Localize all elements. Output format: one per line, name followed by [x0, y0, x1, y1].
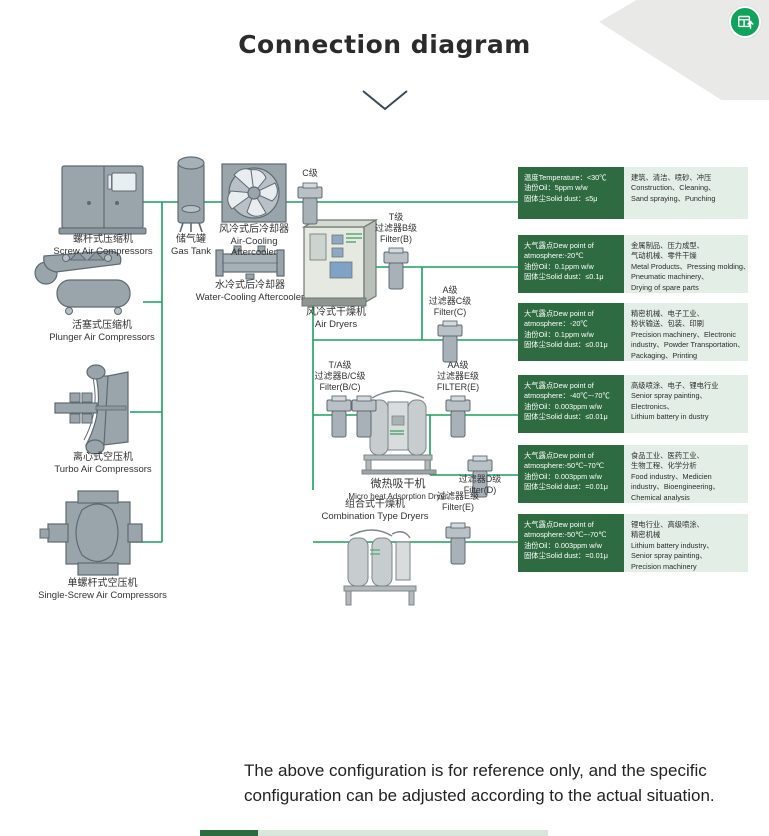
- tag-filter-c: A级 过滤器C级 Filter(C): [410, 285, 490, 318]
- filter-e-line2: Filter(E): [418, 502, 498, 513]
- filter-e-aa-line3: FILTER(E): [418, 382, 498, 393]
- water-cooling-aftercooler-en: Water-Cooling Aftercooler: [180, 292, 320, 304]
- bottom-strip-light: [258, 830, 548, 836]
- tag-c-grade-line1: C级: [290, 168, 330, 179]
- water-cooling-aftercooler-cn: 水冷式后冷却器: [215, 280, 285, 291]
- filter-c-line3: Filter(C): [410, 307, 490, 318]
- tag-filter-b: T级 过滤器B级 Filter(B): [356, 212, 436, 245]
- single-screw-cn: 单螺杆式空压机: [68, 578, 138, 589]
- info-spec-0: 温度Temperature：<30℃油份Oil：5ppm w/w固体尘Solid…: [518, 167, 624, 219]
- label-water-cooling-aftercooler: 水冷式后冷却器 Water-Cooling Aftercooler: [180, 280, 320, 303]
- turbo-compressor-graphic: [55, 365, 128, 454]
- filter-bc-graphic: [327, 396, 376, 437]
- screw-compressor-en: Screw Air Compressors: [30, 246, 176, 258]
- plunger-compressor-en: Plunger Air Compressors: [22, 332, 182, 344]
- filter-e-aa-line1: AA级: [418, 360, 498, 371]
- info-row-4: 大气露点Dew point ofatmosphere:-50℃~70℃油份Oil…: [518, 445, 748, 503]
- bottom-strip-dark: [200, 830, 260, 836]
- filter-c-line1: A级: [410, 285, 490, 296]
- info-spec-4: 大气露点Dew point ofatmosphere:-50℃~70℃油份Oil…: [518, 445, 624, 503]
- filter-b-graphic: [384, 248, 408, 289]
- info-spec-3: 大气露点Dew point ofatmosphere：-40℃~-70℃油份Oi…: [518, 375, 624, 433]
- table-upload-icon: [737, 14, 754, 31]
- tag-filter-bc: T/A级 过滤器B/C级 Filter(B/C): [300, 360, 380, 393]
- info-row-0: 温度Temperature：<30℃油份Oil：5ppm w/w固体尘Solid…: [518, 167, 748, 219]
- label-air-dryer: 风冷式干燥机 Air Dryers: [288, 307, 384, 330]
- connection-diagram-page: Connection diagram: [0, 0, 769, 836]
- single-screw-en: Single-Screw Air Compressors: [10, 590, 195, 602]
- filter-e-aa-graphic: [446, 396, 470, 437]
- filter-bc-line2: 过滤器B/C级: [300, 371, 380, 382]
- single-screw-compressor-graphic: [40, 491, 142, 575]
- screw-compressor-graphic: [59, 166, 146, 234]
- info-apps-3: 高级喷涂、电子、锂电行业Senior spray painting、Electr…: [624, 375, 748, 433]
- micro-heat-dryer-cn: 微热吸干机: [371, 478, 426, 490]
- turbo-compressor-cn: 离心式空压机: [73, 452, 133, 463]
- chevron-down-icon: [360, 88, 410, 117]
- filter-c-graphic: [438, 321, 462, 362]
- label-single-screw-compressor: 单螺杆式空压机 Single-Screw Air Compressors: [10, 578, 195, 601]
- info-spec-1: 大气露点Dew point ofatmosphere:-20℃油份Oil：0.1…: [518, 235, 624, 293]
- info-apps-1: 金属制品、压力成型、气动机械、零件干燥Metal Products、Pressi…: [624, 235, 748, 293]
- filter-c-grade-graphic: [298, 183, 322, 224]
- label-plunger-compressor: 活塞式压缩机 Plunger Air Compressors: [22, 320, 182, 343]
- filter-e-graphic: [446, 523, 470, 564]
- page-title: Connection diagram: [0, 30, 769, 59]
- label-turbo-compressor: 离心式空压机 Turbo Air Compressors: [28, 452, 178, 475]
- filter-bc-line1: T/A级: [300, 360, 380, 371]
- label-screw-compressor: 螺杆式压缩机 Screw Air Compressors: [30, 234, 176, 257]
- tag-filter-c-grade: C级: [290, 168, 330, 179]
- filter-b-line3: Filter(B): [356, 234, 436, 245]
- info-row-5: 大气露点Dew point ofatmosphere:-50℃~-70℃油份Oi…: [518, 514, 748, 572]
- plunger-compressor-cn: 活塞式压缩机: [72, 320, 132, 331]
- filter-e-line1: 过滤器E级: [418, 491, 498, 502]
- tag-filter-e-aa: AA级 过滤器E级 FILTER(E): [418, 360, 498, 393]
- plunger-compressor-graphic: [35, 251, 130, 315]
- air-cooling-aftercooler-en1: Air-Cooling: [196, 236, 312, 248]
- filter-bc-line3: Filter(B/C): [300, 382, 380, 393]
- footer-note: The above configuration is for reference…: [244, 758, 754, 808]
- air-dryer-cn: 风冷式干燥机: [306, 307, 366, 318]
- tag-filter-e: 过滤器E级 Filter(E): [418, 491, 498, 513]
- air-cooling-aftercooler-graphic: [222, 164, 286, 222]
- combination-dryer-cn: 组合式干燥机: [345, 499, 405, 510]
- gas-tank-graphic: [178, 157, 204, 232]
- info-row-2: 大气露点Dew point ofatmosphere：-20℃油份Oil：0.1…: [518, 303, 748, 361]
- filter-b-line2: 过滤器B级: [356, 223, 436, 234]
- info-apps-0: 建筑、清洁、喷砂、冲压Construction、Cleaning、Sand sp…: [624, 167, 748, 219]
- info-row-3: 大气露点Dew point ofatmosphere：-40℃~-70℃油份Oi…: [518, 375, 748, 433]
- info-apps-4: 食品工业、医药工业、生物工程、化学分析Food industry、Medicie…: [624, 445, 748, 503]
- info-apps-5: 锂电行业、高级喷涂、精密机械Lithium battery industry、S…: [624, 514, 748, 572]
- info-spec-5: 大气露点Dew point ofatmosphere:-50℃~-70℃油份Oi…: [518, 514, 624, 572]
- filter-e-aa-line2: 过滤器E级: [418, 371, 498, 382]
- filter-c-line2: 过滤器C级: [410, 296, 490, 307]
- air-dryer-en: Air Dryers: [288, 319, 384, 331]
- turbo-compressor-en: Turbo Air Compressors: [28, 464, 178, 476]
- filter-d-line1: 过滤器D级: [440, 474, 520, 485]
- info-row-1: 大气露点Dew point ofatmosphere:-20℃油份Oil：0.1…: [518, 235, 748, 293]
- label-air-cooling-aftercooler: 风冷式后冷却器 Air-Cooling Aftercooler: [196, 224, 312, 259]
- info-spec-2: 大气露点Dew point ofatmosphere：-20℃油份Oil：0.1…: [518, 303, 624, 361]
- air-cooling-aftercooler-cn: 风冷式后冷却器: [219, 224, 289, 235]
- screw-compressor-cn: 螺杆式压缩机: [73, 234, 133, 245]
- air-cooling-aftercooler-en2: Aftercooler: [196, 247, 312, 259]
- filter-b-line1: T级: [356, 212, 436, 223]
- info-apps-2: 精密机械、电子工业、粉状输送、包装、印刷Precision machinery、…: [624, 303, 748, 361]
